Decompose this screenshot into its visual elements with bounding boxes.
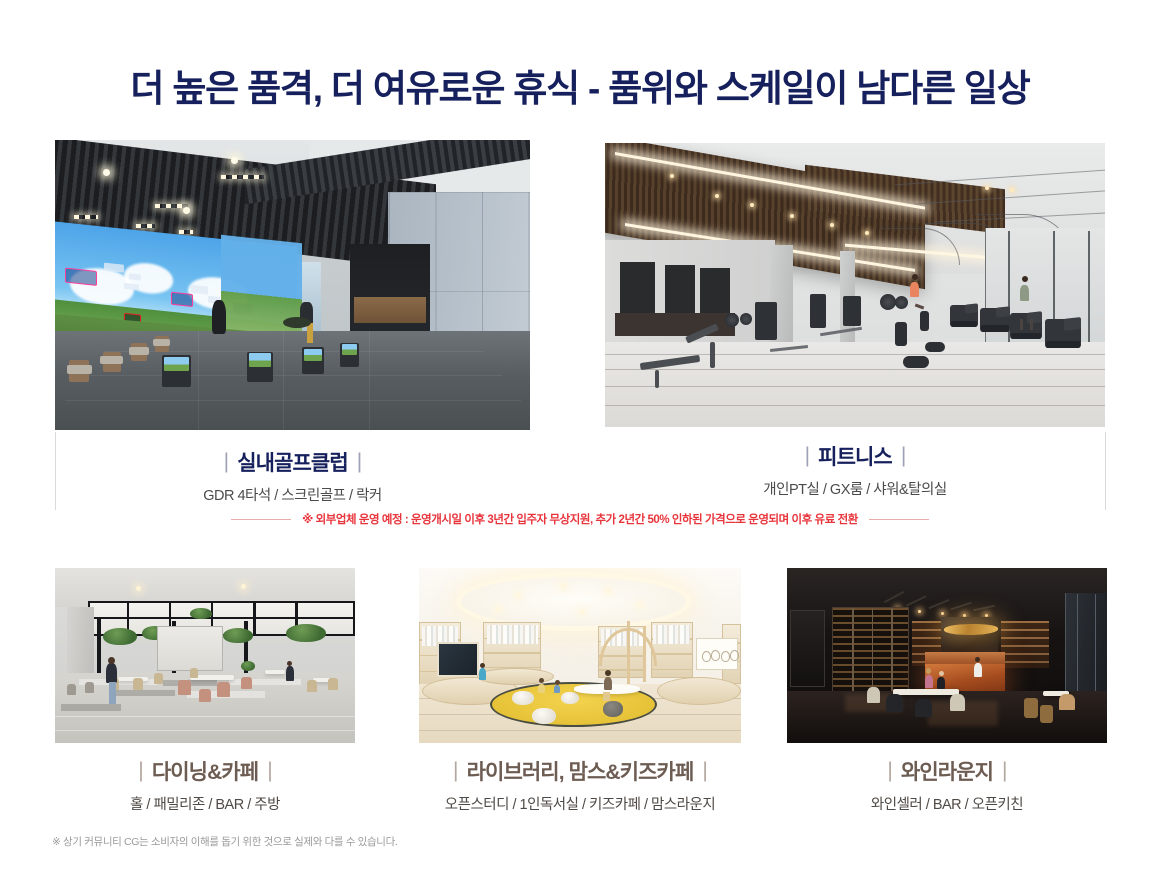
downlight-icon	[241, 584, 246, 589]
rack-mullion	[872, 608, 874, 697]
indoor-golf-club-title: |실내골프클럽|	[55, 452, 530, 475]
dining-chair	[307, 680, 317, 692]
golf-wood-counter	[354, 297, 425, 326]
downlight-icon	[606, 589, 610, 593]
dining-chair	[241, 677, 252, 689]
dining-chair	[67, 684, 76, 695]
weight-plate	[895, 296, 908, 309]
standing-person-figure	[106, 663, 117, 683]
curved-bookshelf	[651, 622, 693, 678]
title-text: 실내골프클럽	[237, 452, 348, 475]
operation-note: ※ 외부업체 운영 예정 : 운영개시일 이후 3년간 입주자 무상지원, 추가…	[0, 511, 1160, 527]
chair-seat	[67, 365, 92, 375]
fitness-caption: |피트니스| 개인PT실 / GX룸 / 샤워&탈의실	[605, 446, 1105, 499]
indoor-golf-club-image	[55, 140, 530, 430]
chair-seat	[153, 339, 170, 346]
bar-stool	[1024, 698, 1038, 718]
floor-plank-line	[419, 730, 741, 731]
title-text: 와인라운지	[901, 761, 993, 784]
library-kids-cafe-caption: |라이브러리, 맘스&키즈카페| 오픈스터디 / 1인독서실 / 키즈카페 / …	[419, 761, 741, 814]
bar-right: |	[993, 759, 1016, 782]
lounge-chair	[103, 352, 121, 372]
runner-leg	[1030, 319, 1033, 330]
indoor-golf-club-subtitle: GDR 4타석 / 스크린골프 / 락커	[55, 484, 530, 505]
seated-guest-figure	[937, 677, 945, 689]
floor-joint	[84, 375, 502, 376]
facility-card-fitness: |피트니스| 개인PT실 / GX룸 / 샤워&탈의실	[605, 143, 1105, 499]
bar-left: |	[215, 450, 238, 473]
light-strip-icon	[74, 215, 98, 219]
library-kids-cafe-image	[419, 568, 741, 743]
dining-cafe-image	[55, 568, 355, 743]
potted-plant	[241, 661, 255, 671]
facility-card-wine-lounge: |와인라운지| 와인셀러 / BAR / 오픈키친	[787, 568, 1107, 814]
light-strip-icon	[136, 224, 155, 228]
floor-joint	[55, 716, 355, 717]
fitness-floor	[605, 342, 1105, 427]
kiosk-screen	[164, 357, 188, 372]
treadmill-console	[996, 306, 1010, 318]
bench-leg	[710, 342, 715, 368]
bar-right: |	[693, 759, 716, 782]
floor-tile-dark	[61, 704, 121, 711]
parent-figure	[604, 677, 612, 690]
shelf-row	[652, 653, 692, 655]
downlight-icon	[985, 186, 989, 190]
exercise-bike-base	[925, 342, 945, 352]
facility-card-library-kids-cafe: |라이브러리, 맘스&키즈카페| 오픈스터디 / 1인독서실 / 키즈카페 / …	[419, 568, 741, 814]
walking-person-figure	[286, 666, 294, 681]
sketch-icon	[721, 651, 730, 662]
treadmill-console	[965, 303, 978, 314]
bench-leg	[655, 370, 659, 388]
floor-joint	[55, 730, 355, 731]
treadmill-deck	[981, 325, 1009, 331]
runner-leg	[1020, 319, 1023, 330]
wine-lounge-image	[787, 568, 1107, 743]
wine-bottle-rows	[1001, 621, 1049, 668]
library-oval-cove-light	[461, 577, 686, 626]
lounge-chair	[1059, 694, 1075, 710]
seated-person-head	[480, 663, 485, 668]
downlight-icon	[865, 231, 869, 235]
golf-bag	[283, 317, 311, 328]
bar-left: |	[444, 759, 467, 782]
dining-table	[893, 689, 959, 695]
books	[653, 625, 690, 643]
whiteboard	[696, 638, 738, 670]
rack-mullion	[852, 608, 854, 697]
cyclist-leg	[915, 303, 924, 309]
treadmill	[1045, 319, 1081, 348]
wine-cellar-rack-wall	[832, 607, 909, 698]
page-title: 더 높은 품격, 더 여유로운 휴식 - 품위와 스케일이 남다른 일상	[0, 58, 1160, 112]
floor-joint	[198, 331, 199, 430]
cyclist-head	[912, 274, 918, 280]
bar-left: |	[878, 759, 901, 782]
bar-left: |	[796, 444, 819, 467]
parent-head	[605, 670, 611, 676]
window-mullion	[1095, 594, 1096, 699]
treadmill	[950, 305, 978, 327]
floor-plank-line	[605, 369, 1105, 370]
dining-chair	[190, 668, 198, 678]
dining-chair	[85, 682, 94, 693]
lounge-chair	[155, 336, 169, 352]
dining-chair	[199, 689, 211, 702]
pouf-seat	[561, 692, 579, 704]
treadmill-console	[1064, 317, 1081, 331]
floor-joint	[283, 331, 284, 430]
dining-chair	[328, 678, 338, 690]
weight-plate	[880, 294, 896, 310]
treadmill-console	[1027, 312, 1042, 324]
dining-cafe-subtitle: 홀 / 패밀리존 / BAR / 주방	[55, 793, 355, 814]
cyclist-figure	[910, 282, 919, 297]
lounge-chair	[950, 694, 965, 711]
downlight-icon	[750, 203, 754, 207]
exercise-bike-base	[903, 356, 929, 368]
floor-tile-dark	[109, 690, 175, 696]
hanging-plant	[223, 628, 253, 643]
wine-lounge-title: |와인라운지|	[787, 761, 1107, 784]
golf-kiosk	[162, 355, 191, 387]
hud-box	[171, 292, 193, 307]
sketch-icon	[730, 650, 739, 661]
hanging-plant	[103, 628, 137, 645]
shelf-row	[484, 652, 540, 654]
person-head	[108, 657, 115, 664]
chair-seat	[129, 347, 149, 355]
child-head	[555, 680, 560, 685]
title-text: 피트니스	[818, 446, 892, 469]
shelf-row	[652, 669, 692, 671]
golf-kiosk	[340, 343, 359, 367]
treadmill	[980, 308, 1010, 332]
note-text: ※ 외부업체 운영 예정 : 운영개시일 이후 3년간 입주자 무상지원, 추가…	[291, 511, 869, 527]
wall-niche	[665, 265, 695, 316]
golf-floor	[55, 331, 530, 430]
back-wine-rack	[1001, 621, 1049, 668]
treadmill-deck	[1046, 341, 1079, 349]
downlight-icon	[103, 169, 110, 176]
person-legs	[109, 682, 116, 704]
treadmill-deck	[1011, 333, 1040, 340]
golfer-figure	[212, 300, 226, 334]
hanging-plant	[190, 608, 212, 619]
light-strip-icon	[155, 204, 188, 208]
weight-machine	[843, 296, 861, 326]
community-facility-page: 더 높은 품격, 더 여유로운 휴식 - 품위와 스케일이 남다른 일상	[0, 0, 1160, 884]
weight-machine	[810, 294, 826, 328]
caption-divider-left	[55, 432, 56, 510]
dining-back-glazing	[157, 626, 223, 672]
treadmill-deck	[951, 321, 977, 327]
floor-plank-line	[605, 354, 1105, 355]
wine-lounge-window-wall	[1065, 593, 1107, 702]
cg-disclaimer: ※ 상기 커뮤니티 CG는 소비자의 이해를 돕기 위한 것으로 실제와 다를 …	[52, 834, 397, 849]
seated-person-figure	[479, 668, 486, 680]
downlight-icon	[580, 610, 584, 614]
downlight-icon	[830, 223, 834, 227]
floor-plank-line	[605, 386, 1105, 387]
floor-joint	[369, 331, 370, 430]
downlight-icon	[496, 607, 500, 611]
downlight-icon	[638, 603, 642, 607]
wine-lounge-door	[790, 610, 825, 687]
kiosk-screen	[304, 349, 322, 361]
lounge-chair	[867, 687, 880, 703]
library-kids-cafe-title: |라이브러리, 맘스&키즈카페|	[419, 761, 741, 784]
child-figure	[538, 684, 545, 693]
indoor-golf-club-caption: |실내골프클럽| GDR 4타석 / 스크린골프 / 락커	[55, 452, 530, 505]
wine-lounge-caption: |와인라운지| 와인셀러 / BAR / 오픈키친	[787, 761, 1107, 814]
seated-guest-figure	[925, 675, 933, 688]
seated-guest-head	[926, 668, 931, 674]
child-figure	[554, 685, 560, 693]
downlight-icon	[136, 586, 141, 591]
downlight-icon	[790, 214, 794, 218]
bar-stool	[1040, 705, 1053, 723]
dining-cafe-title: |다이닝&카페|	[55, 761, 355, 784]
runner-figure	[1020, 285, 1029, 301]
bar-right: |	[258, 759, 281, 782]
weight-machine	[755, 302, 777, 340]
treadmill	[1010, 313, 1042, 339]
title-text: 다이닝&카페	[152, 761, 258, 784]
books	[487, 625, 538, 644]
lounge-chair	[69, 360, 89, 382]
facility-card-indoor-golf-club: |실내골프클럽| GDR 4타석 / 스크린골프 / 락커	[55, 140, 530, 505]
sketch-icon	[711, 650, 720, 661]
wall-niche	[700, 268, 730, 316]
wine-bottle-rows	[833, 608, 908, 697]
downlight-icon	[516, 593, 520, 597]
floor-joint	[65, 400, 521, 401]
golf-kiosk	[302, 347, 324, 374]
window-mullion	[1077, 594, 1078, 699]
dining-chair	[154, 673, 163, 684]
light-strip-icon	[179, 230, 193, 234]
exercise-bike	[895, 322, 907, 346]
wall-mounted-tv	[437, 642, 479, 677]
golf-kiosk	[247, 352, 273, 382]
bar-right: |	[892, 444, 915, 467]
person-head	[287, 661, 292, 666]
arch-post	[643, 626, 646, 682]
light-strip-icon	[221, 175, 264, 179]
glass-mullion	[1088, 231, 1090, 350]
bartender-figure	[974, 663, 982, 677]
fitness-image	[605, 143, 1105, 427]
lounge-chair	[915, 699, 932, 717]
arch-post	[627, 621, 630, 691]
pouf-seat-dark	[603, 701, 623, 717]
bar-left: |	[129, 759, 152, 782]
note-rule-right	[869, 519, 929, 520]
dining-table	[265, 670, 285, 674]
dining-chair	[178, 680, 191, 695]
lounge-chair	[886, 694, 903, 712]
sketch-icon	[702, 651, 711, 662]
pouf-seat	[532, 708, 556, 724]
rack-mullion	[891, 608, 893, 697]
kiosk-screen	[342, 344, 358, 355]
pergola-beam	[90, 617, 353, 620]
seated-guest-head	[939, 671, 944, 676]
fitness-title: |피트니스|	[605, 446, 1105, 469]
wall-niche	[620, 262, 655, 319]
downlight-icon	[561, 584, 565, 588]
title-text: 라이브러리, 맘스&키즈카페	[467, 761, 694, 784]
floor-plank-line	[605, 405, 1105, 406]
library-kids-cafe-subtitle: 오픈스터디 / 1인독서실 / 키즈카페 / 맘스라운지	[419, 793, 741, 814]
bar-right: |	[348, 450, 371, 473]
facility-card-dining-cafe: |다이닝&카페| 홀 / 패밀리존 / BAR / 주방	[55, 568, 355, 814]
dining-cafe-caption: |다이닝&카페| 홀 / 패밀리존 / BAR / 주방	[55, 761, 355, 814]
track-light-icon	[941, 612, 944, 615]
caption-divider-right	[1105, 432, 1106, 510]
kiosk-screen	[249, 353, 271, 367]
wine-lounge-subtitle: 와인셀러 / BAR / 오픈키친	[787, 793, 1107, 814]
lounge-chair	[131, 343, 147, 361]
dining-chair	[133, 678, 143, 690]
dining-chair	[217, 682, 230, 697]
curved-bench	[657, 677, 741, 705]
table-leg	[603, 692, 611, 701]
note-rule-left	[231, 519, 291, 520]
exercise-bike	[920, 311, 929, 331]
hanging-plant	[286, 624, 326, 642]
fitness-subtitle: 개인PT실 / GX룸 / 샤워&탈의실	[605, 478, 1105, 499]
gold-pendant-light	[944, 624, 998, 635]
pouf-seat	[512, 691, 534, 705]
chair-seat	[100, 356, 122, 365]
